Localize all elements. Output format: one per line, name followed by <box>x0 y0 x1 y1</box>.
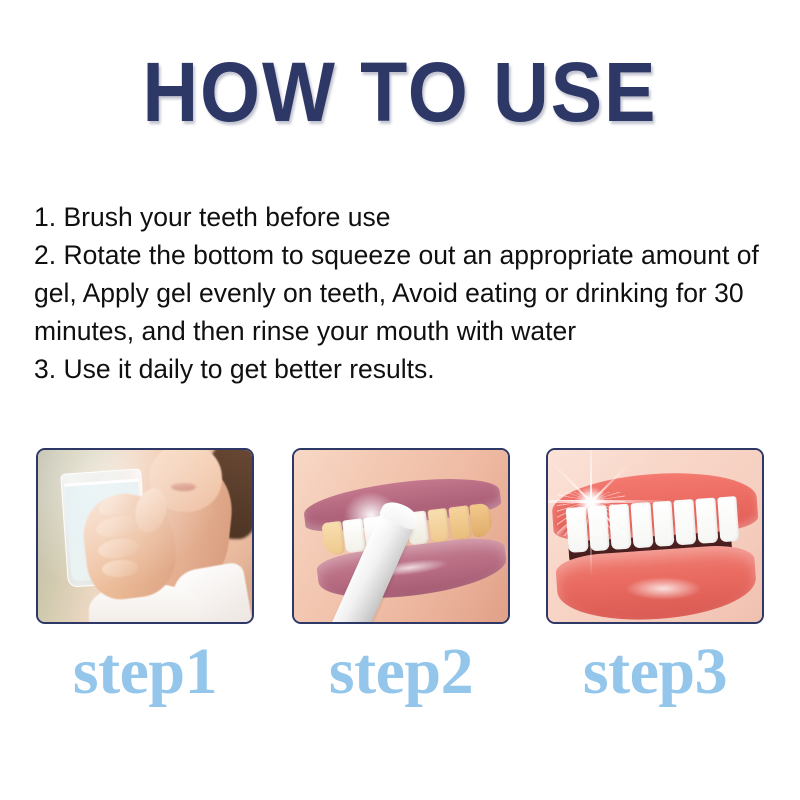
step3-label: step3 <box>546 636 764 708</box>
page-title-wrapper: HOW TO USE <box>0 50 800 134</box>
tooth <box>631 502 654 548</box>
sparkling-white-smile-photo <box>548 450 762 622</box>
step2-photo-panel <box>292 448 510 624</box>
tooth <box>448 505 472 540</box>
page-title: HOW TO USE <box>142 50 657 134</box>
photo-highlight-glow <box>38 450 252 622</box>
steps-photo-row <box>36 448 764 624</box>
instruction-line-1: 1. Brush your teeth before use <box>34 198 764 236</box>
tooth <box>609 503 632 549</box>
woman-drinking-glass-of-water-photo <box>38 450 252 622</box>
tooth <box>427 508 451 543</box>
tooth <box>566 506 589 552</box>
lip-shine-highlight <box>625 577 702 599</box>
step3-photo-panel <box>546 448 764 624</box>
tooth <box>652 500 675 546</box>
gel-glow-highlight <box>343 491 399 539</box>
tooth <box>674 499 697 545</box>
instruction-line-2: 2. Rotate the bottom to squeeze out an a… <box>34 236 764 350</box>
instruction-line-3: 3. Use it daily to get better results. <box>34 350 764 388</box>
instructions-block: 1. Brush your teeth before use 2. Rotate… <box>34 198 764 388</box>
tooth <box>321 521 345 556</box>
whitening-pen-applied-to-teeth-photo <box>294 450 508 622</box>
step2-label: step2 <box>292 636 510 708</box>
how-to-use-infographic: HOW TO USE 1. Brush your teeth before us… <box>0 0 800 800</box>
step1-label: step1 <box>36 636 254 708</box>
step-labels-row: step1 step2 step3 <box>36 636 764 716</box>
tooth <box>696 497 719 543</box>
tooth <box>717 496 740 542</box>
step1-photo-panel <box>36 448 254 624</box>
tooth <box>588 505 611 551</box>
